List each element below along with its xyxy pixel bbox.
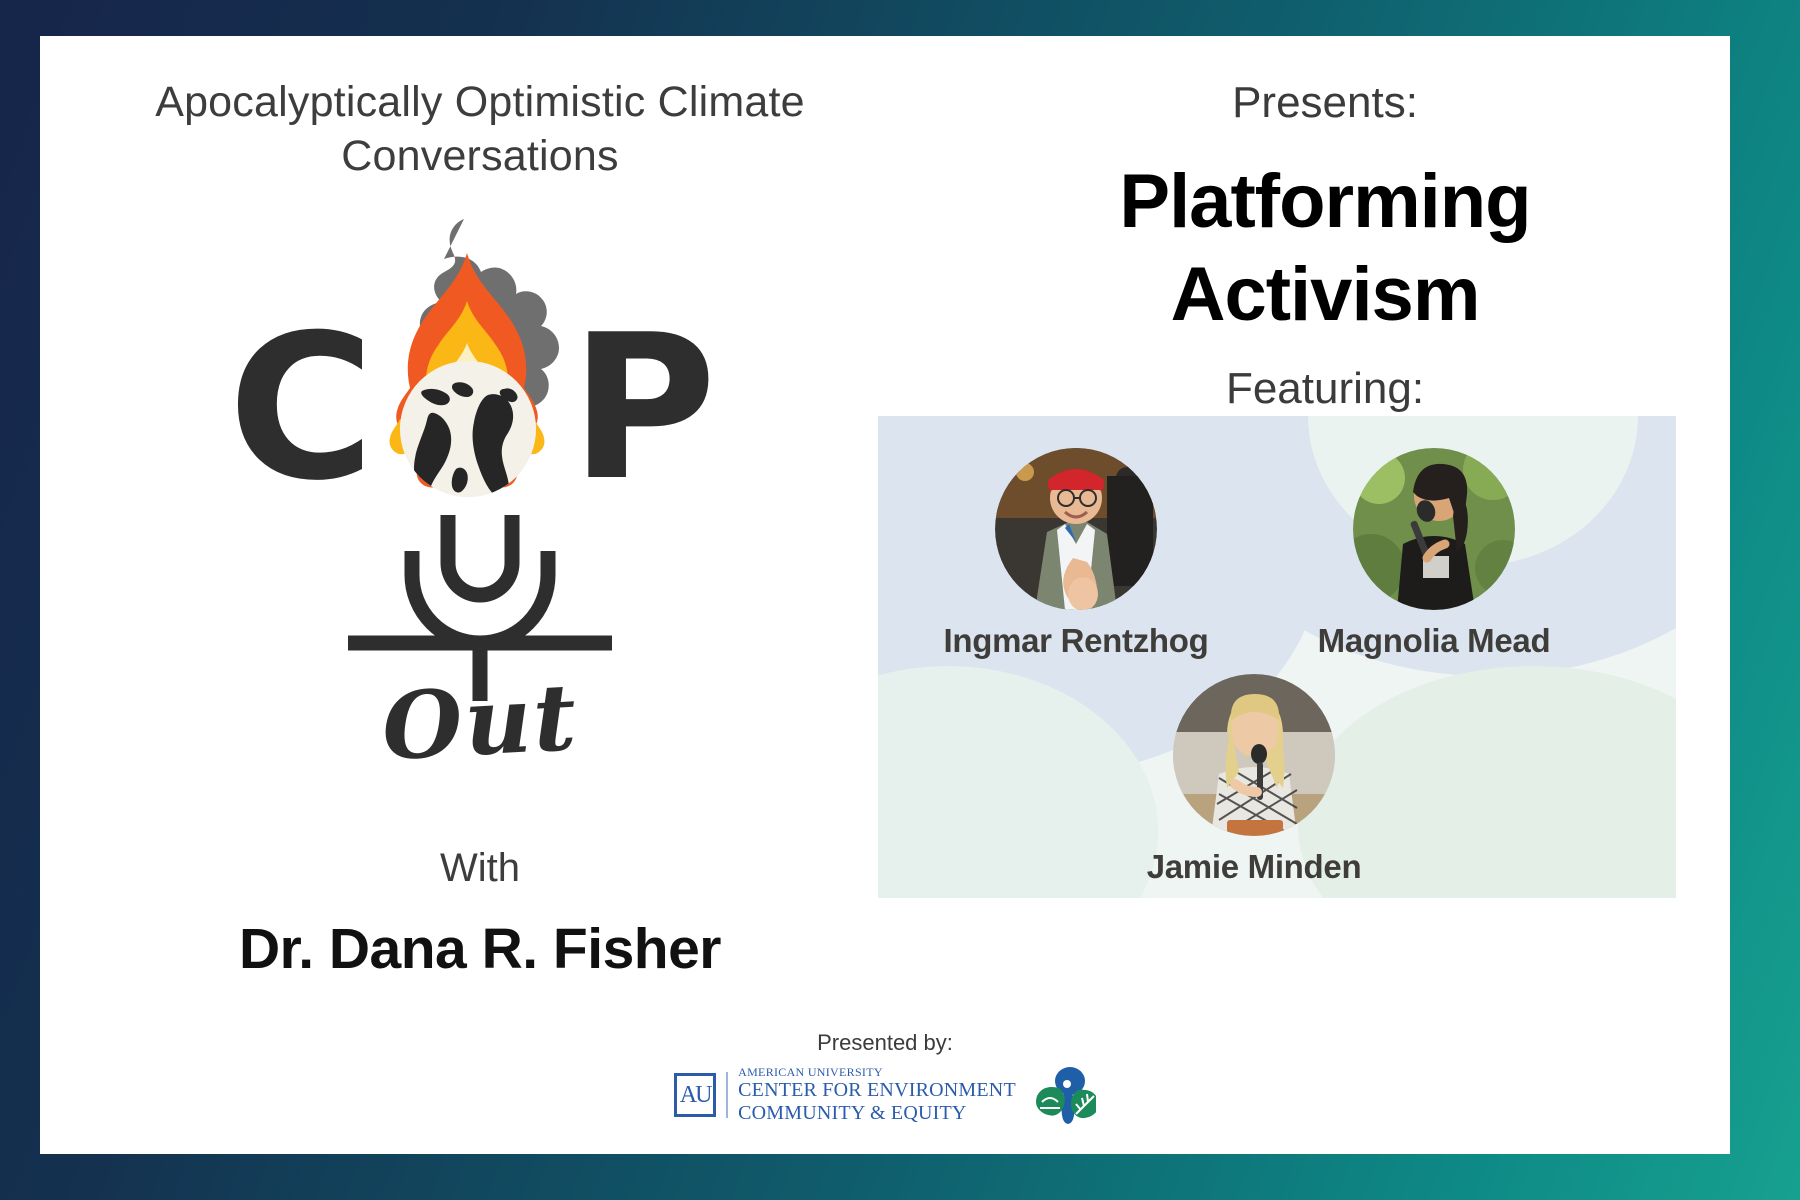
host-name: Dr. Dana R. Fisher bbox=[80, 916, 880, 982]
cop-out-logo: C P bbox=[180, 221, 780, 861]
logo-letter-p: P bbox=[570, 309, 717, 509]
speaker-item: Magnolia Mead bbox=[1288, 448, 1580, 660]
speaker-photo-ingmar-rentzhog bbox=[995, 448, 1157, 610]
featuring-label: Featuring: bbox=[920, 364, 1730, 414]
logo-divider bbox=[726, 1072, 728, 1118]
presented-by-label: Presented by: bbox=[40, 1030, 1730, 1056]
speakers-panel: Ingmar Rentzhog bbox=[878, 416, 1676, 898]
au-monogram: AU bbox=[680, 1082, 711, 1109]
speaker-photo-jamie-minden bbox=[1173, 674, 1335, 836]
slide-background: Apocalyptically Optimistic Climate Conve… bbox=[0, 0, 1800, 1200]
event-title-line-2: Activism bbox=[920, 249, 1730, 342]
show-title: Apocalyptically Optimistic Climate Conve… bbox=[100, 76, 860, 184]
cop-wordmark: C P bbox=[180, 221, 780, 521]
environment-petals-logo bbox=[1034, 1066, 1096, 1124]
left-column: Apocalyptically Optimistic Climate Conve… bbox=[40, 36, 920, 1036]
au-wordmark: AMERICAN UNIVERSITY CENTER FOR ENVIRONME… bbox=[738, 1066, 1016, 1124]
globe-icon bbox=[400, 361, 536, 497]
right-column: Presents: Platforming Activism Featuring… bbox=[920, 36, 1730, 1036]
slide-card: Apocalyptically Optimistic Climate Conve… bbox=[40, 36, 1730, 1154]
speaker-name: Magnolia Mead bbox=[1288, 622, 1580, 660]
au-line-2: CENTER FOR ENVIRONMENT bbox=[738, 1079, 1016, 1101]
event-title: Platforming Activism bbox=[920, 156, 1730, 341]
au-line-3: COMMUNITY & EQUITY bbox=[738, 1102, 1016, 1124]
presents-label: Presents: bbox=[920, 78, 1730, 128]
speakers-list: Ingmar Rentzhog bbox=[878, 416, 1676, 898]
burning-globe-icon bbox=[352, 213, 582, 533]
speaker-photo-magnolia-mead bbox=[1353, 448, 1515, 610]
speaker-name: Ingmar Rentzhog bbox=[930, 622, 1222, 660]
speaker-item: Jamie Minden bbox=[1108, 674, 1400, 886]
footer: Presented by: AU AMERICAN UNIVERSITY CEN… bbox=[40, 1036, 1730, 1154]
au-line-1: AMERICAN UNIVERSITY bbox=[738, 1066, 1016, 1079]
american-university-logo: AU AMERICAN UNIVERSITY CENTER FOR ENVIRO… bbox=[674, 1066, 1016, 1124]
au-shield-icon: AU bbox=[674, 1073, 716, 1117]
speaker-item: Ingmar Rentzhog bbox=[930, 448, 1222, 660]
partner-logos: AU AMERICAN UNIVERSITY CENTER FOR ENVIRO… bbox=[40, 1066, 1730, 1124]
with-label: With bbox=[100, 846, 860, 891]
speaker-name: Jamie Minden bbox=[1108, 848, 1400, 886]
event-title-line-1: Platforming bbox=[920, 156, 1730, 249]
